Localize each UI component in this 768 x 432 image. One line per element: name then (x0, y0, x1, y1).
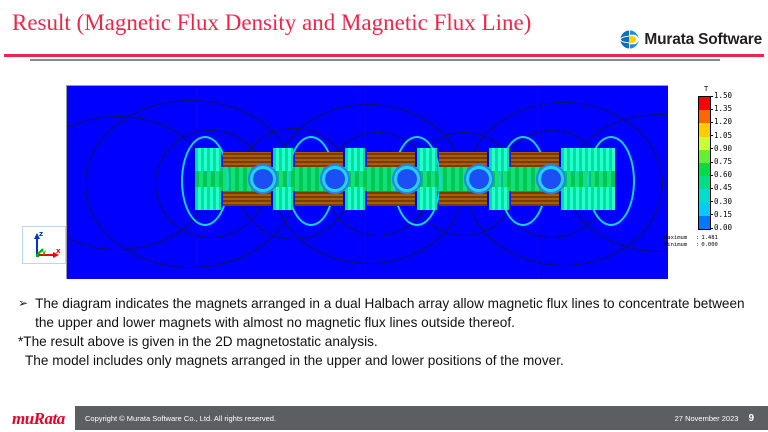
legend-swatch (699, 97, 710, 110)
magnet-block (439, 152, 487, 167)
legend-tick-mark (710, 201, 713, 202)
magnet-block (439, 191, 487, 206)
legend-tick: 1.20 (710, 118, 732, 126)
halbach-magnet-array (195, 148, 615, 210)
legend-tick-value: 0.30 (714, 198, 732, 206)
axis-label-y: y (42, 249, 46, 256)
magnet-block (367, 191, 415, 206)
magnet-row-lower (195, 191, 615, 206)
header-divider-gray (30, 59, 720, 61)
legend-minimum-value: 0.000 (701, 242, 718, 249)
result-figure: z x y T 1.501.351.201.050.900.750.600.45… (14, 80, 754, 285)
legend-tick-mark (710, 188, 713, 189)
magnet-gap (345, 148, 365, 171)
flux-null-point (325, 169, 345, 189)
flux-null-point (469, 169, 489, 189)
magnet-gap (417, 187, 437, 210)
legend-tick-value: 0.60 (714, 171, 732, 179)
legend-tick: 0.15 (710, 211, 732, 219)
legend-swatch (699, 163, 710, 176)
legend-tick: 1.50 (710, 92, 732, 100)
bullet-arrow-icon: ➢ (18, 294, 28, 313)
legend-swatch (699, 110, 710, 123)
magnet-gap (561, 148, 615, 171)
magnet-block (367, 152, 415, 167)
magnet-gap (195, 187, 221, 210)
murata-logo: muRata (12, 409, 65, 429)
brand-logo: Murata Software (620, 30, 762, 49)
magnet-gap (489, 148, 509, 171)
bullet-item-text: The diagram indicates the magnets arrang… (35, 294, 752, 332)
magnet-block (295, 152, 343, 167)
legend-tick-mark (710, 148, 713, 149)
legend-tick: 0.90 (710, 145, 732, 153)
axis-label-x: x (56, 247, 61, 255)
legend-minimum-separator: : (696, 242, 699, 249)
legend-tick-value: 0.75 (714, 158, 732, 166)
page-title: Result (Magnetic Flux Density and Magnet… (12, 10, 531, 36)
magnet-block (295, 191, 343, 206)
legend-tick-value: 0.45 (714, 184, 732, 192)
legend-minimum-label: Minimum (664, 242, 694, 249)
legend-tick: 0.00 (710, 224, 732, 232)
header-divider-red (4, 54, 764, 57)
legend-tick-value: 0.00 (714, 224, 732, 232)
page-number: 9 (748, 413, 754, 424)
legend-tick-value: 1.50 (714, 92, 732, 100)
flux-null-point (397, 169, 417, 189)
legend-tick-labels: 1.501.351.201.050.900.750.600.450.300.15… (710, 92, 752, 232)
legend-tick: 0.45 (710, 184, 732, 192)
axis-label-z: z (39, 230, 43, 238)
brand-name: Murata Software (644, 31, 762, 49)
axis-triad: z x y (22, 226, 66, 264)
legend-tick-value: 1.05 (714, 132, 732, 140)
legend-tick: 0.60 (710, 171, 732, 179)
flux-null-point (541, 169, 561, 189)
legend-tick-mark (710, 162, 713, 163)
legend-tick-value: 1.20 (714, 118, 732, 126)
legend-tick: 1.35 (710, 105, 732, 113)
legend-swatch (699, 150, 710, 163)
legend-tick-mark (710, 96, 713, 97)
legend-tick-mark (710, 135, 713, 136)
legend-swatch (699, 137, 710, 150)
legend-maximum-separator: : (696, 235, 699, 242)
magnet-gap (195, 148, 221, 171)
legend-extrema: Maximum : 1.481 Minimum : 0.000 (664, 235, 718, 249)
magnet-block (511, 191, 559, 206)
magnet-block (223, 191, 271, 206)
legend-tick: 0.30 (710, 198, 732, 206)
magnet-gap (273, 187, 293, 210)
magnetic-flux-contour-plot (66, 85, 668, 279)
legend-tick-mark (710, 214, 713, 215)
legend-tick: 1.05 (710, 132, 732, 140)
body-text: ➢ The diagram indicates the magnets arra… (18, 294, 752, 370)
legend-tick-value: 1.35 (714, 105, 732, 113)
legend-tick-mark (710, 109, 713, 110)
magnet-gap (273, 148, 293, 171)
legend-tick: 0.75 (710, 158, 732, 166)
footer: muRata Copyright © Murata Software Co., … (0, 404, 768, 432)
legend-swatch (699, 176, 710, 189)
globe-icon (620, 30, 639, 49)
note-line-2: The model includes only magnets arranged… (25, 351, 752, 370)
note-line-1: *The result above is given in the 2D mag… (18, 332, 752, 351)
magnet-gap (345, 187, 365, 210)
legend-swatch (699, 189, 710, 202)
legend-tick-mark (710, 175, 713, 176)
legend-maximum-row: Maximum : 1.481 (664, 235, 718, 242)
footer-date: 27 November 2023 (675, 414, 739, 423)
bullet-item: ➢ The diagram indicates the magnets arra… (18, 294, 752, 332)
footer-meta: 27 November 2023 9 (675, 413, 754, 424)
legend-swatch (699, 123, 710, 136)
magnet-row-upper (195, 152, 615, 167)
legend-tick-mark (710, 228, 713, 229)
legend-maximum-value: 1.481 (701, 235, 718, 242)
magnet-gap (489, 187, 509, 210)
colorbar-legend: T 1.501.351.201.050.900.750.600.450.300.… (674, 85, 754, 265)
magnet-gap (417, 148, 437, 171)
legend-unit: T (704, 85, 708, 93)
footer-bar: Copyright © Murata Software Co., Ltd. Al… (75, 406, 768, 430)
legend-tick-value: 0.15 (714, 211, 732, 219)
legend-maximum-label: Maximum (664, 235, 694, 242)
legend-swatch (699, 203, 710, 216)
legend-swatch (699, 216, 710, 229)
copyright-text: Copyright © Murata Software Co., Ltd. Al… (85, 414, 276, 423)
legend-minimum-row: Minimum : 0.000 (664, 242, 718, 249)
magnet-block (223, 152, 271, 167)
flux-null-point (253, 169, 273, 189)
magnet-block (511, 152, 559, 167)
magnet-gap (561, 187, 615, 210)
legend-tick-mark (710, 122, 713, 123)
legend-tick-value: 0.90 (714, 145, 732, 153)
